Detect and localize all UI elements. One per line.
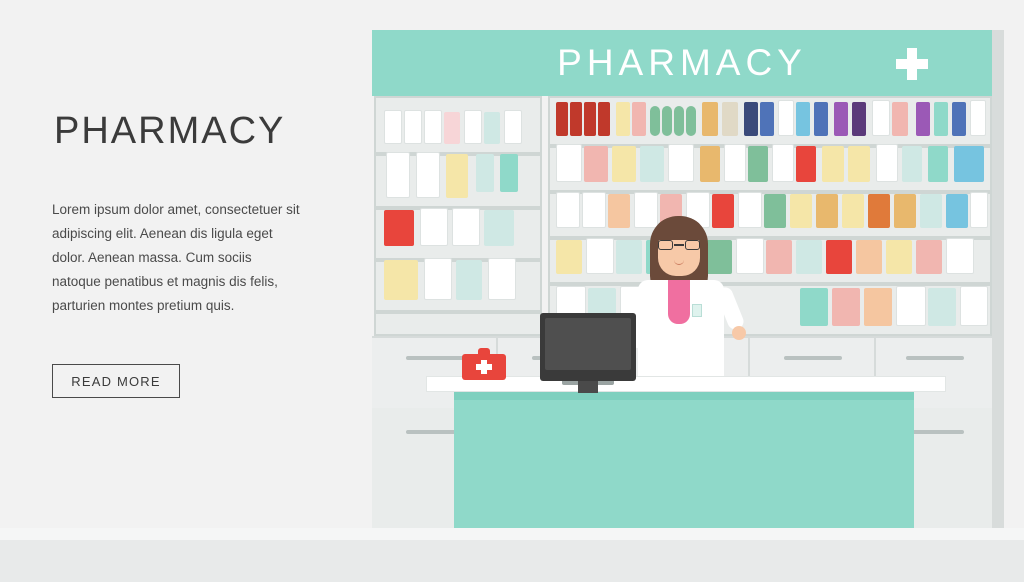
shirt bbox=[668, 280, 690, 324]
medical-cross-icon bbox=[476, 360, 492, 374]
hair-fringe bbox=[654, 218, 704, 240]
shelf-products-right bbox=[550, 98, 990, 334]
counter-edge bbox=[454, 392, 914, 400]
monitor-screen bbox=[545, 318, 631, 370]
read-more-button[interactable]: READ MORE bbox=[52, 364, 180, 398]
footer-bar: 昵图网 www.nipic.cn ID:23566073 NO:20200419… bbox=[0, 540, 1024, 582]
monitor-stand bbox=[578, 381, 598, 393]
shelf-unit-left bbox=[374, 96, 542, 336]
shelf-unit-right bbox=[548, 96, 992, 336]
left-text-panel: PHARMACY Lorem ipsum dolor amet, consect… bbox=[0, 0, 372, 540]
shelf-products-left bbox=[376, 98, 540, 334]
illustration-canvas: PHARMACY Lorem ipsum dolor amet, consect… bbox=[0, 0, 1024, 582]
body-paragraph: Lorem ipsum dolor amet, consectetuer sit… bbox=[52, 198, 302, 318]
computer-monitor[interactable] bbox=[540, 313, 636, 381]
pharmacy-illustration: PHARMACY bbox=[372, 30, 1004, 540]
wall-shadow bbox=[992, 30, 1004, 540]
page-title: PHARMACY bbox=[54, 110, 285, 153]
glasses-icon bbox=[658, 240, 700, 250]
name-badge bbox=[692, 304, 702, 317]
pharmacist-character bbox=[622, 208, 742, 388]
medical-cross-icon bbox=[896, 48, 928, 80]
hand-right bbox=[732, 326, 746, 340]
